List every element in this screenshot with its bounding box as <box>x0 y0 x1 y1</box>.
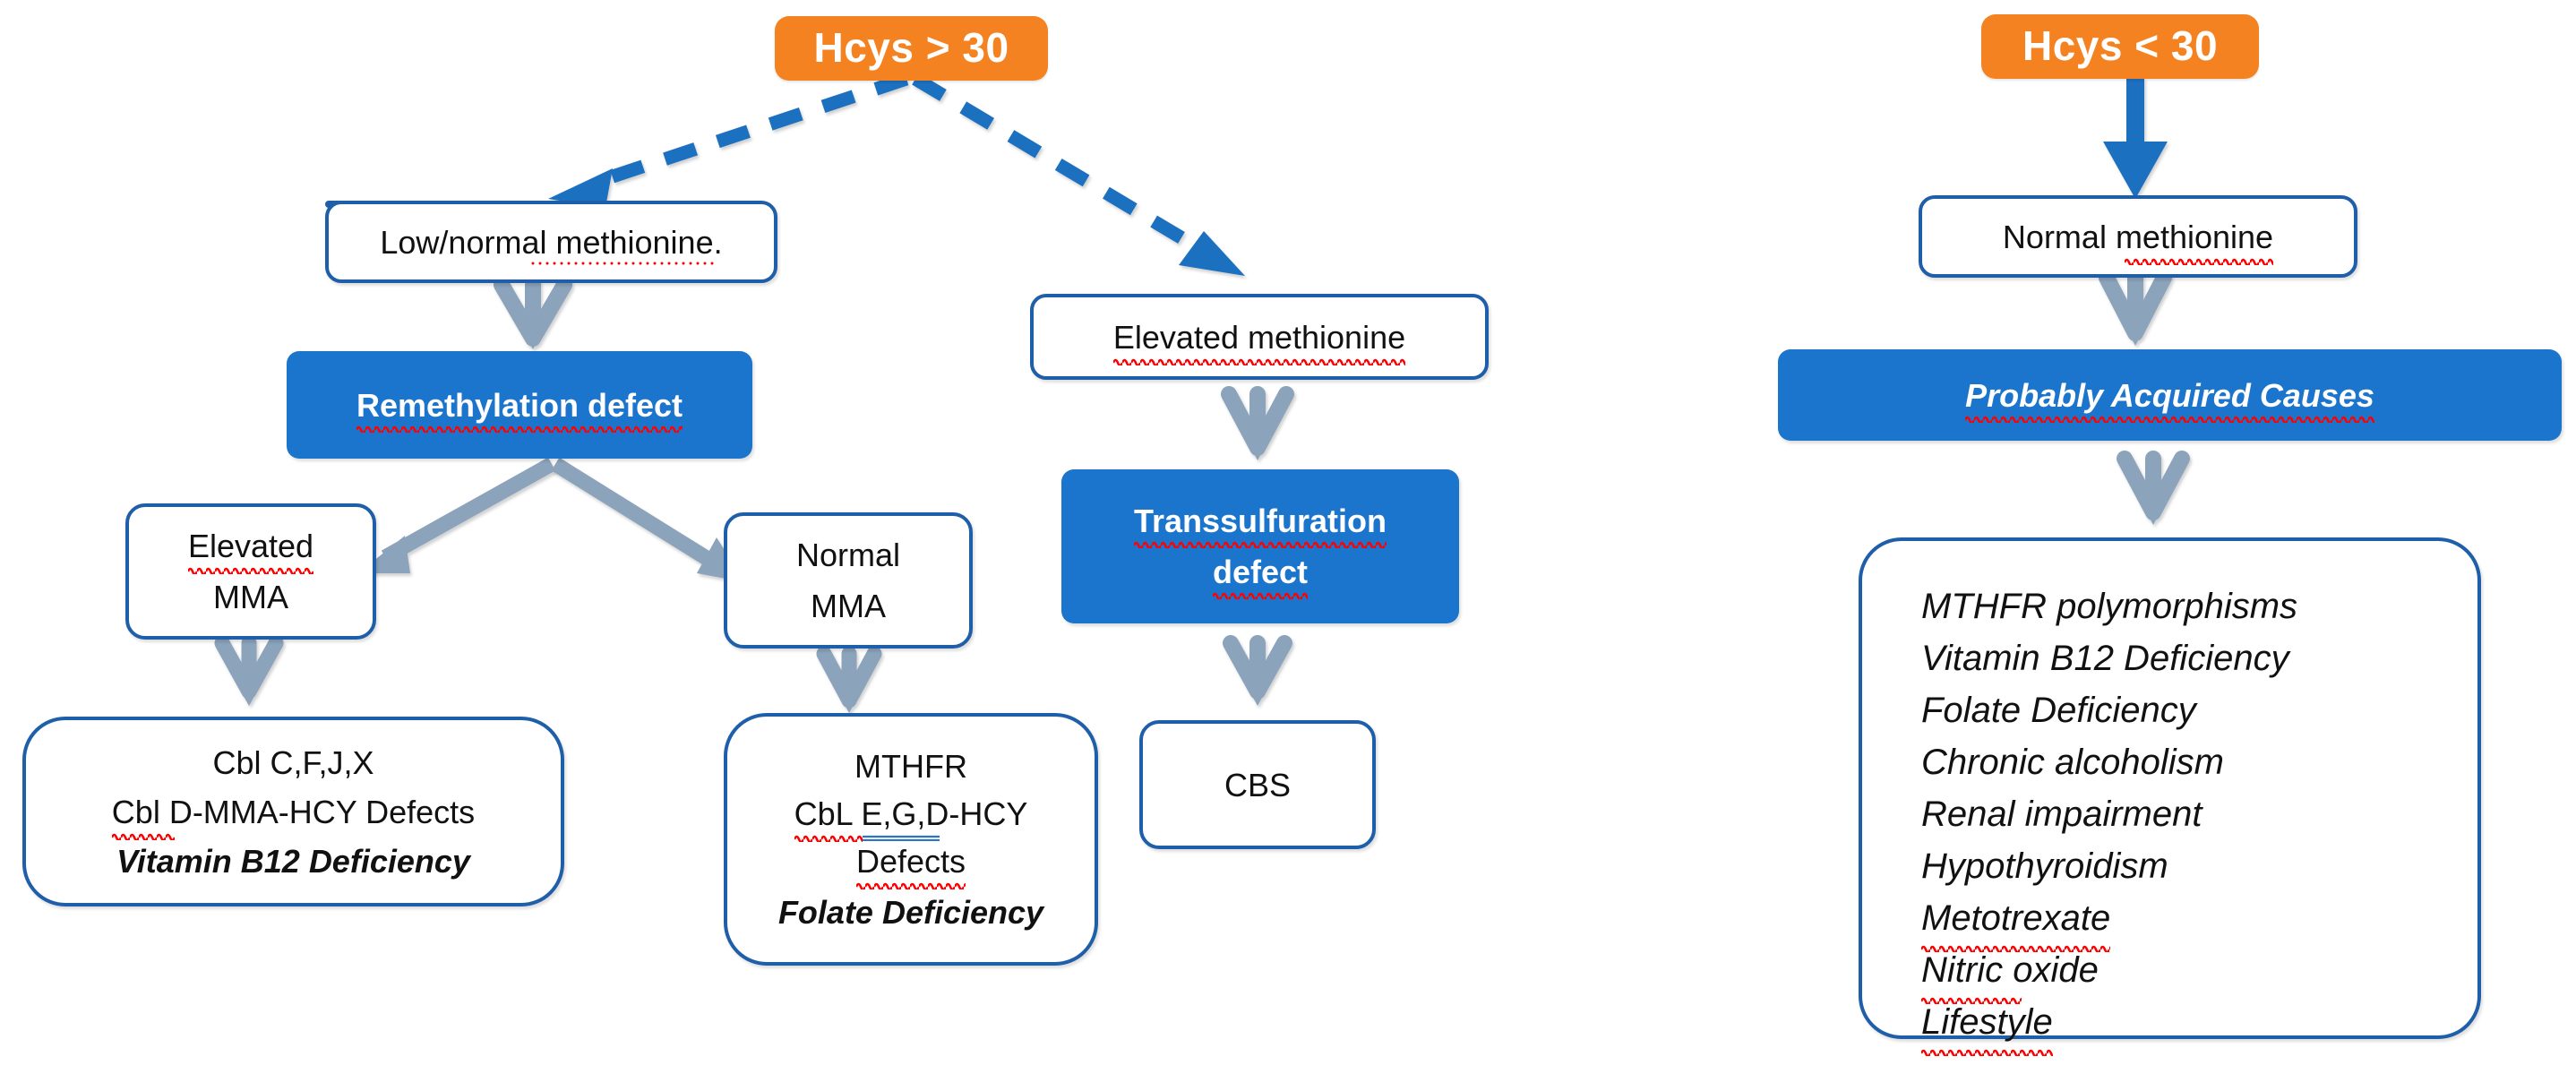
node-cbs-label: CBS <box>1224 765 1291 805</box>
list-item: Folate Deficiency <box>1921 684 2196 736</box>
node-elevated-mma-line1: Elevated <box>188 526 313 566</box>
spellcheck-underline-icon <box>1213 591 1308 599</box>
list-item: Vitamin B12 Deficiency <box>1921 632 2289 684</box>
arrow-transsulfuration-defect-to-cbs <box>1231 643 1284 706</box>
spellcheck-underline-icon <box>2125 257 2273 265</box>
spellcheck-underline-icon <box>188 566 313 574</box>
arrow-hcys-low-to-normal-methionine <box>2103 77 2168 199</box>
arrow-remethylation-defect-to-elevated-mma <box>358 464 552 573</box>
node-normal-mma-line2: MMA <box>811 586 886 626</box>
node-elevated-mma[interactable]: Elevated MMA <box>125 503 376 640</box>
node-hcys-less-30-label: Hcys < 30 <box>2022 21 2218 73</box>
node-hcys-greater-30[interactable]: Hcys > 30 <box>775 16 1048 81</box>
node-hcys-greater-30-label: Hcys > 30 <box>813 22 1009 74</box>
arrow-elevated-mma-to-cbl-defects <box>222 643 276 706</box>
grammar-underline-icon <box>863 833 940 841</box>
node-normal-methionine-label: Normal methionine <box>2003 217 2273 257</box>
node-cbs[interactable]: CBS <box>1139 720 1376 849</box>
node-normal-mma[interactable]: Normal MMA <box>724 512 973 649</box>
list-item: Metotrexate <box>1921 892 2110 944</box>
node-hcys-less-30[interactable]: Hcys < 30 <box>1981 14 2259 79</box>
arrow-low-normal-methionine-to-remethylation-defect <box>502 285 564 349</box>
node-cbl-defects-line1: Cbl C,F,J,X <box>212 743 374 783</box>
node-transsulfuration-defect[interactable]: Transsulfuration defect <box>1061 469 1459 623</box>
spellcheck-underline-icon <box>356 425 683 433</box>
node-transsulfuration-defect-line2: defect <box>1213 552 1308 592</box>
node-probably-acquired-causes[interactable]: Probably Acquired Causes <box>1778 349 2562 441</box>
list-item: Hypothyroidism <box>1921 840 2168 892</box>
node-normal-mma-line1: Normal <box>796 535 900 575</box>
node-low-normal-methionine-box[interactable]: Low/normal methionine. <box>325 201 777 283</box>
list-item: Lifestyle <box>1921 996 2053 1048</box>
spellcheck-underline-icon <box>1965 415 2374 423</box>
node-elevated-methionine-label: Elevated methionine <box>1113 317 1405 357</box>
spellcheck-underline-icon <box>1921 1048 2053 1056</box>
node-low-normal-methionine-label: Low/normal methionine. <box>380 222 722 262</box>
diagram-canvas: Hcys > 30 Low/normal methionine. Remethy… <box>0 0 2576 1091</box>
node-acquired-causes-list[interactable]: MTHFR polymorphisms Vitamin B12 Deficien… <box>1859 537 2481 1039</box>
arrow-hcys-high-to-low-normal-methionine <box>548 79 906 208</box>
node-remethylation-defect[interactable]: Remethylation defect <box>287 351 752 459</box>
node-cbl-defects-line3: Vitamin B12 Deficiency <box>116 841 470 881</box>
spellcheck-underline-icon <box>856 881 966 889</box>
node-elevated-methionine[interactable]: Elevated methionine <box>1030 294 1489 380</box>
node-transsulfuration-defect-line1: Transsulfuration <box>1134 501 1387 541</box>
arrow-remethylation-defect-to-normal-mma <box>555 464 745 582</box>
node-mthfr-defects-line1: MTHFR <box>854 746 967 786</box>
arrow-normal-mma-to-mthfr-defects <box>824 654 874 713</box>
list-item: Nitric oxide <box>1921 944 2099 996</box>
list-item: MTHFR polymorphisms <box>1921 580 2297 632</box>
spellcheck-underline-icon <box>794 834 863 842</box>
spellcheck-underline-icon <box>1113 357 1405 365</box>
node-cbl-defects[interactable]: Cbl C,F,J,X Cbl D-MMA-HCY Defects Vitami… <box>22 717 564 906</box>
node-remethylation-defect-label: Remethylation defect <box>356 385 683 425</box>
node-mthfr-defects[interactable]: MTHFR CbL E,G,D-HCY Defects Folate Defic… <box>724 713 1098 966</box>
spellcheck-underline-icon <box>112 832 175 840</box>
arrow-elevated-methionine-to-transsulfuration-defect <box>1229 394 1286 460</box>
node-probably-acquired-causes-label: Probably Acquired Causes <box>1965 375 2374 416</box>
node-mthfr-defects-line4: Folate Deficiency <box>778 892 1043 932</box>
spellcheck-underline-icon <box>531 258 716 266</box>
list-item: Renal impairment <box>1921 788 2202 840</box>
node-cbl-defects-line2: Cbl D-MMA-HCY Defects <box>112 792 475 832</box>
spellcheck-underline-icon <box>1134 540 1387 548</box>
node-mthfr-defects-line3: Defects <box>856 841 966 881</box>
node-mthfr-defects-line2: CbL E,G,D-HCY <box>794 794 1028 834</box>
node-elevated-mma-line2: MMA <box>213 577 288 617</box>
arrow-normal-methionine-to-probably-acquired-causes <box>2107 278 2164 346</box>
arrow-probably-acquired-causes-to-causes-list <box>2125 459 2182 525</box>
node-normal-methionine[interactable]: Normal methionine <box>1919 195 2357 278</box>
list-item: Chronic alcoholism <box>1921 736 2224 788</box>
arrow-hcys-high-to-elevated-methionine <box>915 79 1245 276</box>
